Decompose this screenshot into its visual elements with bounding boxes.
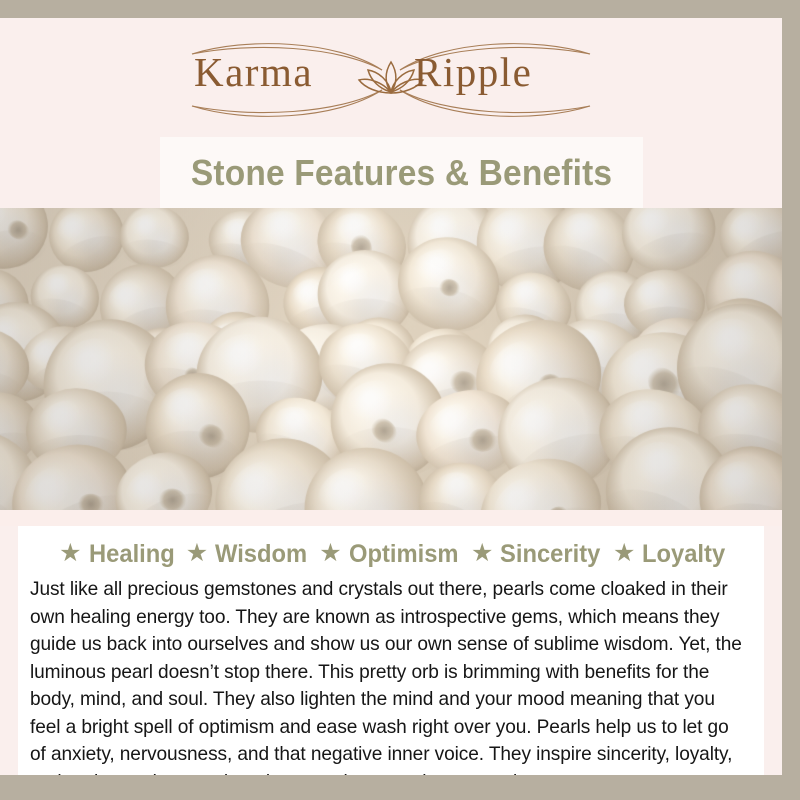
keyword-label: Sincerity bbox=[500, 540, 600, 569]
brand-logo[interactable]: Karma Ripple bbox=[156, 40, 626, 120]
keyword-label: Healing bbox=[89, 540, 175, 569]
keyword-label: Loyalty bbox=[642, 540, 725, 569]
keyword-label: Optimism bbox=[349, 540, 459, 569]
body-paragraph: Just like all precious gemstones and cry… bbox=[30, 576, 743, 775]
keyword-item-loyalty: ★Loyalty bbox=[606, 540, 730, 569]
star-icon: ★ bbox=[613, 541, 635, 566]
keyword-item-optimism: ★Optimism bbox=[312, 540, 464, 569]
keyword-label: Wisdom bbox=[215, 540, 307, 569]
keyword-list: ★Healing★Wisdom★Optimism★Sincerity★Loyal… bbox=[18, 526, 764, 574]
star-icon: ★ bbox=[471, 541, 493, 566]
brand-header: Karma Ripple bbox=[0, 18, 782, 137]
page-frame: Karma Ripple Stone Features & Benefits P… bbox=[0, 18, 782, 775]
star-icon: ★ bbox=[59, 541, 81, 566]
keyword-item-wisdom: ★Wisdom bbox=[179, 540, 312, 569]
brand-name-ripple: Ripple bbox=[414, 52, 532, 93]
keyword-item-sincerity: ★Sincerity bbox=[464, 540, 606, 569]
pearl-photo-canvas bbox=[0, 208, 782, 510]
content-panel: ★Healing★Wisdom★Optimism★Sincerity★Loyal… bbox=[18, 526, 764, 775]
photo-text-divider bbox=[0, 510, 782, 526]
title-band: Stone Features & Benefits bbox=[160, 137, 643, 208]
page-title: Stone Features & Benefits bbox=[191, 152, 612, 194]
pearl-photograph: Pearl bbox=[0, 208, 782, 510]
star-icon: ★ bbox=[319, 541, 341, 566]
keyword-item-healing: ★Healing bbox=[52, 540, 179, 569]
star-icon: ★ bbox=[186, 541, 208, 566]
brand-name-karma: Karma bbox=[194, 52, 313, 93]
